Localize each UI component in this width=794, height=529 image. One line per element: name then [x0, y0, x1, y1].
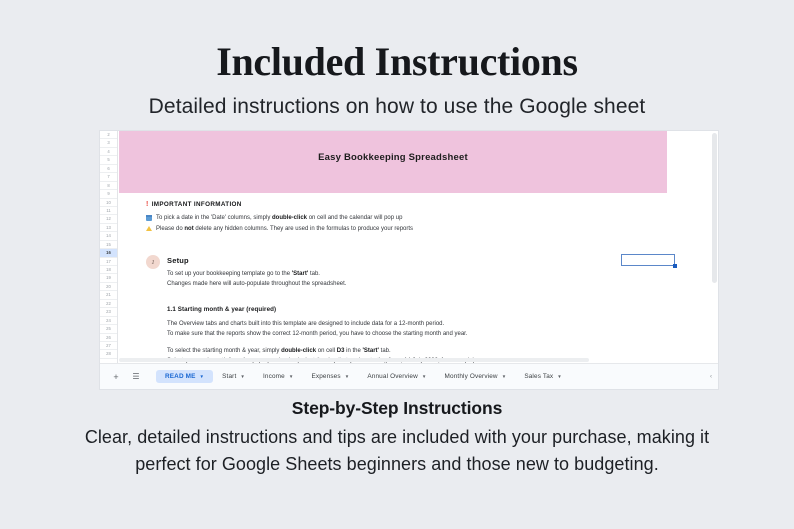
google-sheet-screenshot: 2345678910111213141516171819202122232425…	[100, 131, 718, 389]
chevron-down-icon[interactable]: ▼	[289, 374, 294, 379]
footer-line-1: Clear, detailed instructions and tips ar…	[85, 427, 709, 447]
setup-line-2: Changes made here will auto-populate thr…	[167, 280, 346, 290]
footer-body: Clear, detailed instructions and tips ar…	[57, 424, 737, 478]
section-1-1-heading: 1.1 Starting month & year (required)	[167, 306, 708, 313]
row-header-13[interactable]: 13	[100, 224, 117, 232]
row-header-27[interactable]: 27	[100, 342, 117, 350]
setup-heading: Setup	[167, 256, 346, 265]
row-header-2[interactable]: 2	[100, 131, 117, 139]
list-item: To pick a date in the 'Date' columns, si…	[146, 214, 708, 223]
page-subtitle: Detailed instructions on how to use the …	[0, 93, 794, 121]
sheet-banner-title: Easy Bookkeeping Spreadsheet	[119, 131, 667, 193]
sheet-tab-label: Start	[222, 373, 236, 380]
bullet-text: To pick a date in the 'Date' columns, si…	[156, 214, 402, 223]
page-title: Included Instructions	[0, 38, 794, 86]
row-header-15[interactable]: 15	[100, 241, 117, 249]
row-header-22[interactable]: 22	[100, 300, 117, 308]
sheet-tab-read-me[interactable]: READ ME▼	[156, 370, 213, 383]
row-header-6[interactable]: 6	[100, 165, 117, 173]
sheet-tab-sales-tax[interactable]: Sales Tax▼	[515, 370, 571, 383]
row-header-12[interactable]: 12	[100, 215, 117, 223]
row-header-26[interactable]: 26	[100, 334, 117, 342]
exclamation-icon: !	[146, 201, 149, 208]
horizontal-scrollbar-thumb[interactable]	[119, 358, 589, 362]
sheet-tab-label: Sales Tax	[524, 373, 553, 380]
row-header-24[interactable]: 24	[100, 317, 117, 325]
sheet-tab-expenses[interactable]: Expenses▼	[302, 370, 358, 383]
sheet-tab-label: Monthly Overview	[445, 373, 498, 380]
row-header-21[interactable]: 21	[100, 291, 117, 299]
chevron-down-icon[interactable]: ▼	[240, 374, 245, 379]
vertical-scrollbar[interactable]	[711, 133, 718, 335]
sheet-tab-label: Expenses	[311, 373, 340, 380]
section-1-1-p1-line2: To make sure that the reports show the c…	[167, 330, 708, 340]
footer-title: Step-by-Step Instructions	[0, 398, 794, 419]
row-header-16[interactable]: 16	[100, 249, 117, 257]
important-information-label: IMPORTANT INFORMATION	[152, 201, 242, 208]
row-header-9[interactable]: 9	[100, 190, 117, 198]
chevron-down-icon[interactable]: ▼	[502, 374, 507, 379]
list-item: Please do not delete any hidden columns.…	[146, 225, 708, 234]
all-sheets-grid-icon[interactable]: ☰	[128, 369, 144, 385]
sheet-tab-label: READ ME	[165, 373, 196, 380]
chevron-left-icon[interactable]: ‹	[710, 374, 712, 380]
section-1-1: 1.1 Starting month & year (required) The…	[167, 306, 708, 363]
row-number-gutter: 2345678910111213141516171819202122232425…	[100, 131, 118, 363]
row-header-4[interactable]: 4	[100, 148, 117, 156]
row-header-19[interactable]: 19	[100, 274, 117, 282]
selected-cell[interactable]	[621, 254, 675, 266]
chevron-down-icon[interactable]: ▼	[422, 374, 427, 379]
row-header-28[interactable]: 28	[100, 350, 117, 358]
row-header-8[interactable]: 8	[100, 182, 117, 190]
step-number-badge: 1	[146, 255, 160, 269]
sheet-tab-bar: + ☰ READ ME▼Start▼Income▼Expenses▼Annual…	[100, 363, 718, 389]
promo-page: Included Instructions Detailed instructi…	[0, 0, 794, 529]
row-header-5[interactable]: 5	[100, 156, 117, 164]
row-header-14[interactable]: 14	[100, 232, 117, 240]
section-1-1-p2-line1: To select the starting month & year, sim…	[167, 347, 708, 357]
row-header-10[interactable]: 10	[100, 199, 117, 207]
row-header-20[interactable]: 20	[100, 283, 117, 291]
sheet-tab-annual-overview[interactable]: Annual Overview▼	[358, 370, 435, 383]
setup-line-1: To set up your bookkeeping template go t…	[167, 270, 346, 280]
chevron-down-icon[interactable]: ▼	[200, 374, 205, 379]
row-header-23[interactable]: 23	[100, 308, 117, 316]
vertical-scrollbar-thumb[interactable]	[712, 133, 717, 283]
sheet-banner: Easy Bookkeeping Spreadsheet	[119, 131, 667, 193]
important-information-heading: ! IMPORTANT INFORMATION	[146, 201, 708, 208]
bullet-text: Please do not delete any hidden columns.…	[156, 225, 413, 234]
sheet-content: ! IMPORTANT INFORMATION To pick a date i…	[146, 201, 708, 363]
row-header-3[interactable]: 3	[100, 139, 117, 147]
row-header-18[interactable]: 18	[100, 266, 117, 274]
row-header-7[interactable]: 7	[100, 173, 117, 181]
warning-triangle-icon	[146, 226, 152, 231]
row-header-25[interactable]: 25	[100, 325, 117, 333]
footer-line-2: perfect for Google Sheets beginners and …	[135, 454, 659, 474]
row-header-11[interactable]: 11	[100, 207, 117, 215]
calendar-icon	[146, 215, 152, 221]
chevron-down-icon[interactable]: ▼	[557, 374, 562, 379]
section-1-1-p1-line1: The Overview tabs and charts built into …	[167, 320, 708, 330]
sheet-tab-label: Annual Overview	[367, 373, 418, 380]
sheet-tab-income[interactable]: Income▼	[254, 370, 302, 383]
chevron-down-icon[interactable]: ▼	[345, 374, 350, 379]
plus-icon[interactable]: +	[108, 369, 124, 385]
sheet-tab-label: Income	[263, 373, 285, 380]
sheet-tabs: READ ME▼Start▼Income▼Expenses▼Annual Ove…	[156, 370, 571, 383]
setup-text: Setup To set up your bookkeeping templat…	[167, 256, 346, 289]
sheet-grid: 2345678910111213141516171819202122232425…	[100, 131, 718, 363]
row-header-17[interactable]: 17	[100, 258, 117, 266]
sheet-tab-start[interactable]: Start▼	[213, 370, 254, 383]
sheet-tab-monthly-overview[interactable]: Monthly Overview▼	[436, 370, 516, 383]
